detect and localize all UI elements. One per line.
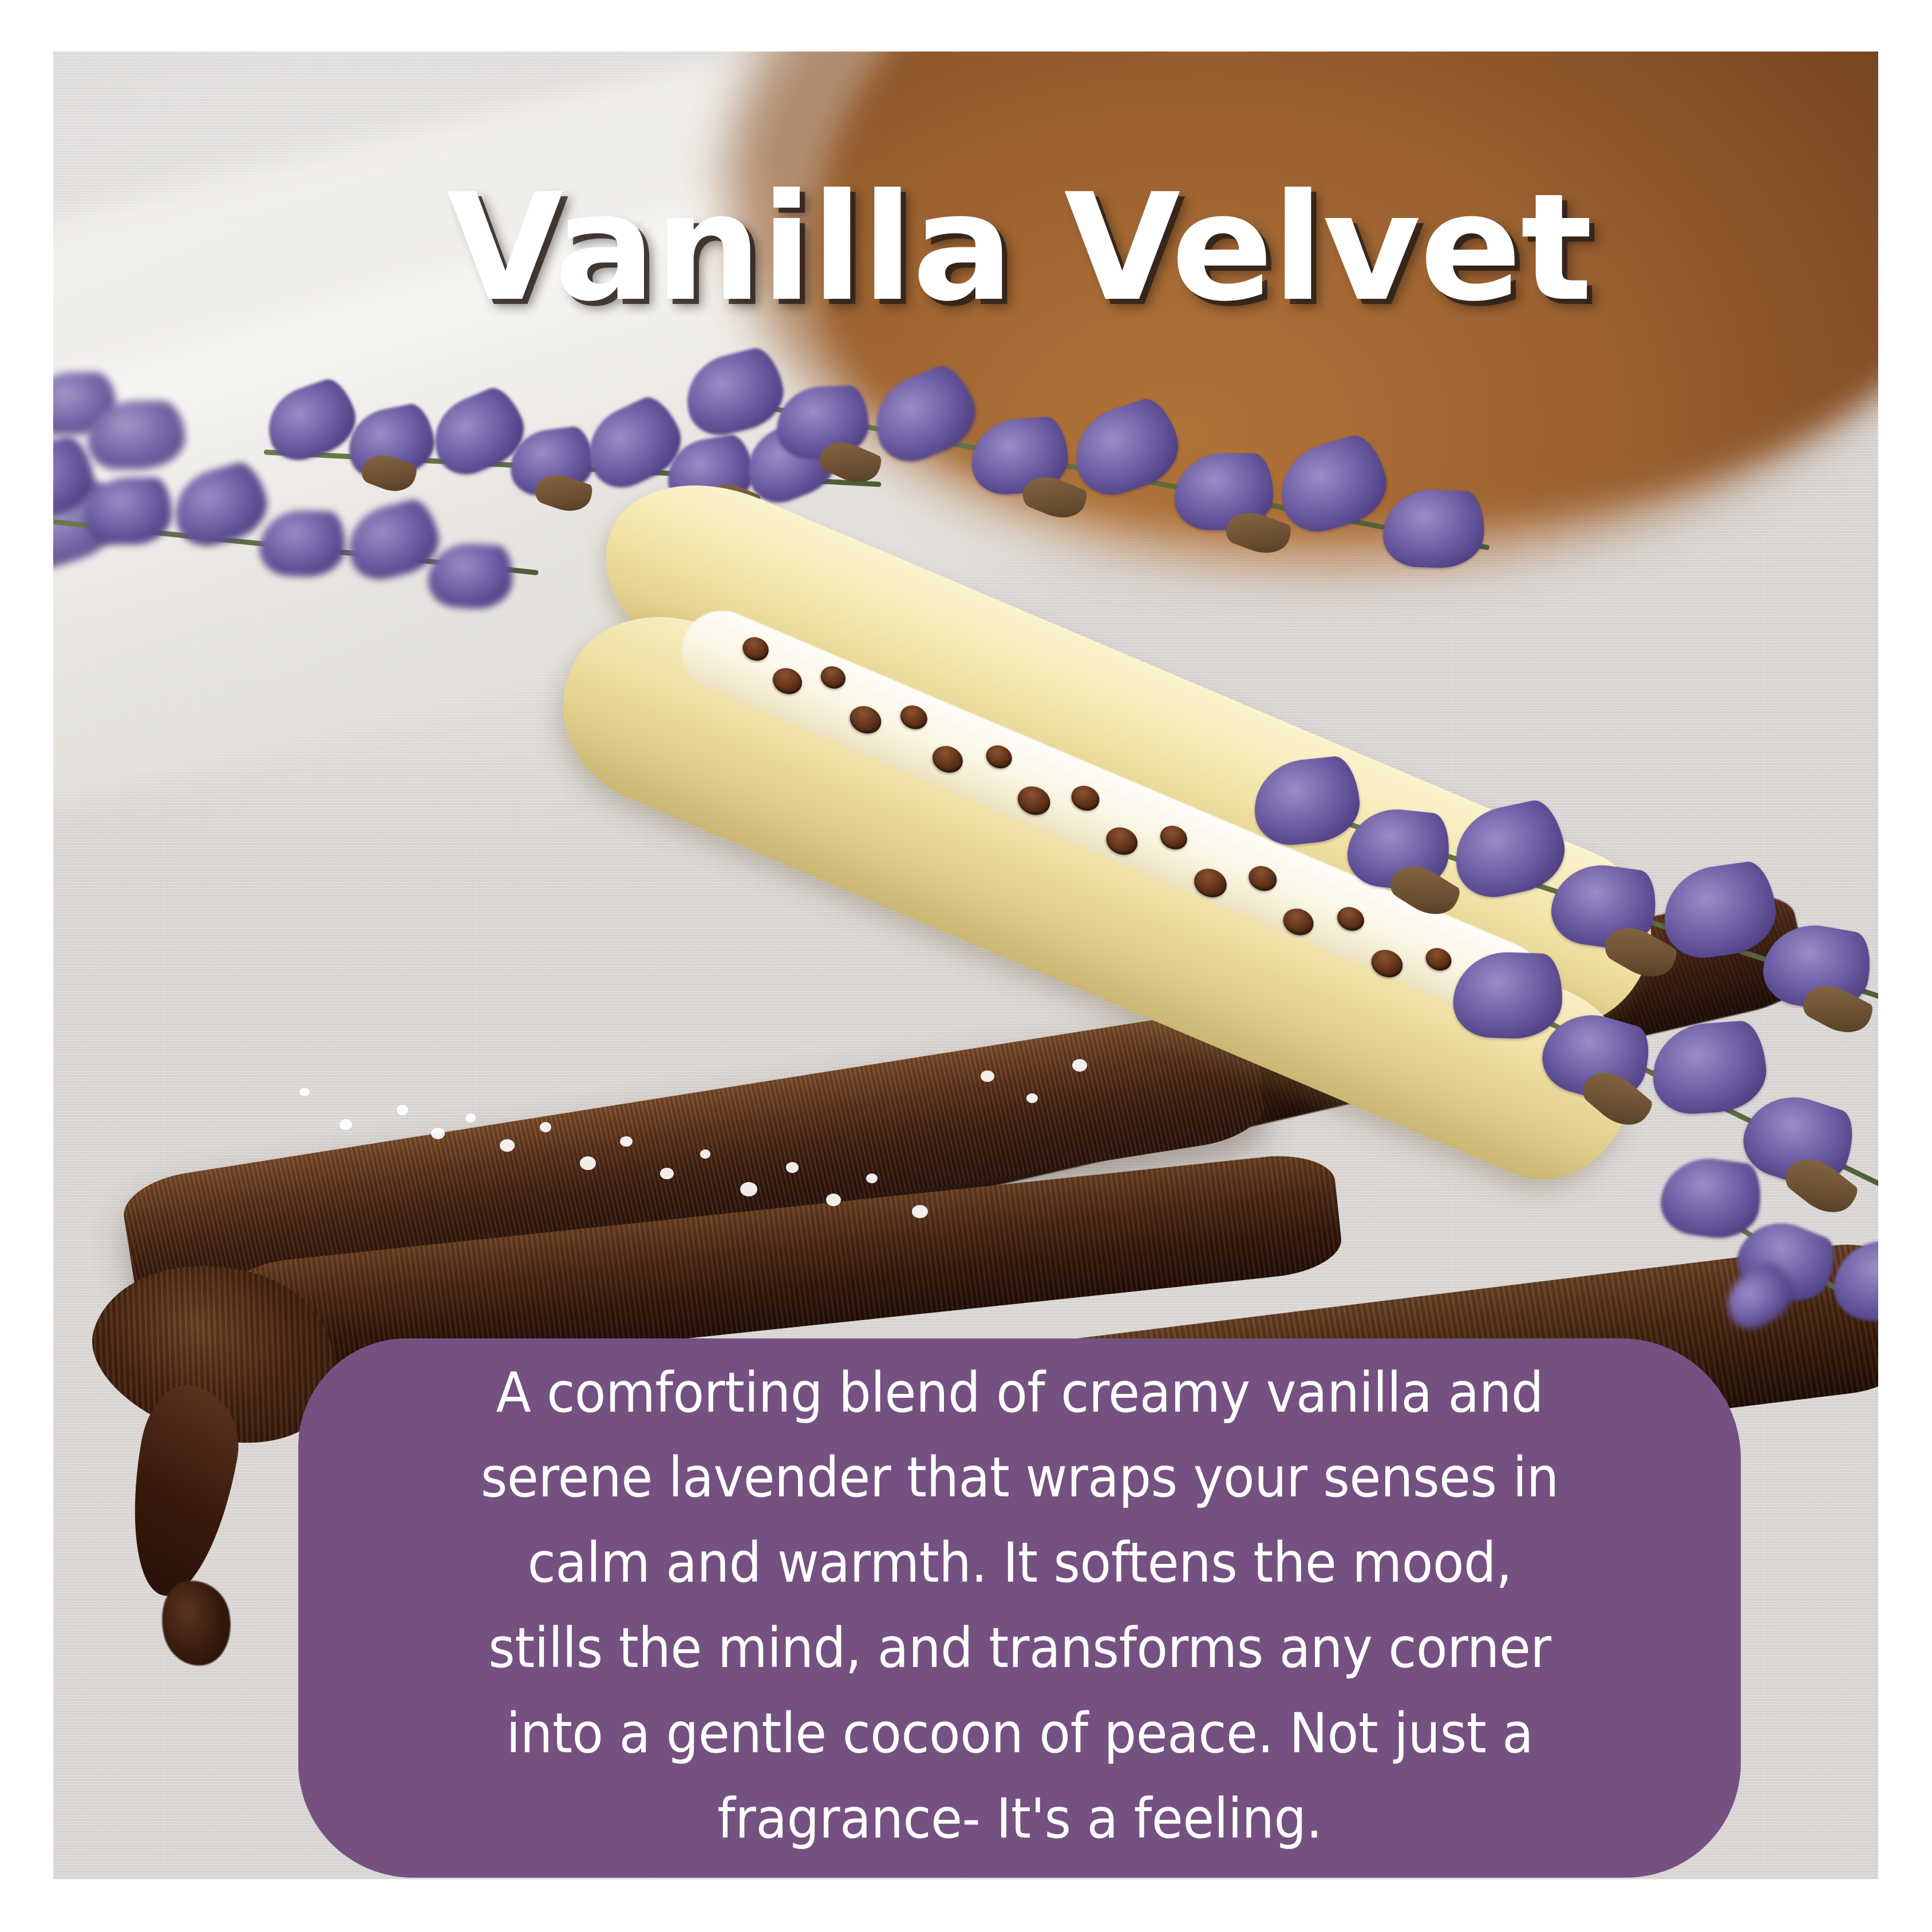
lavender-floret bbox=[1650, 1020, 1769, 1116]
lavender-floret bbox=[165, 458, 274, 553]
description-line: serene lavender that wraps your senses i… bbox=[480, 1445, 1558, 1510]
description-card: A comforting blend of creamy vanilla and… bbox=[298, 1338, 1741, 1878]
lavender-floret bbox=[1452, 950, 1564, 1040]
lavender-floret bbox=[259, 509, 346, 577]
description-line: calm and warmth. It softens the mood, bbox=[527, 1531, 1512, 1595]
lavender-floret bbox=[1250, 754, 1363, 848]
lavender-floret bbox=[1382, 488, 1485, 570]
lavender-floret bbox=[1658, 859, 1781, 963]
product-photo: Vanilla Velvet A comforting blend of cre… bbox=[53, 52, 1878, 1879]
lavender-floret bbox=[862, 359, 986, 472]
lavender-floret bbox=[85, 477, 171, 544]
frame-border-right bbox=[1878, 0, 1932, 1932]
frame-border-top bbox=[0, 0, 1932, 52]
lavender-floret bbox=[1832, 1238, 1878, 1325]
poster-canvas: Vanilla Velvet A comforting blend of cre… bbox=[0, 0, 1932, 1932]
lavender-floret bbox=[678, 344, 791, 442]
description-line: stills the mind, and transforms any corn… bbox=[488, 1616, 1551, 1680]
lavender-floret bbox=[1657, 1152, 1765, 1243]
description-line: fragrance- It's a feeling. bbox=[717, 1787, 1322, 1851]
page-title: Vanilla Velvet bbox=[53, 174, 1878, 322]
frame-border-bottom bbox=[0, 1879, 1932, 1932]
frame-border-left bbox=[0, 0, 53, 1932]
description-line: into a gentle cocoon of peace. Not just … bbox=[506, 1701, 1533, 1765]
description-line: A comforting blend of creamy vanilla and bbox=[496, 1361, 1543, 1425]
description-text: A comforting blend of creamy vanilla and… bbox=[480, 1350, 1558, 1862]
